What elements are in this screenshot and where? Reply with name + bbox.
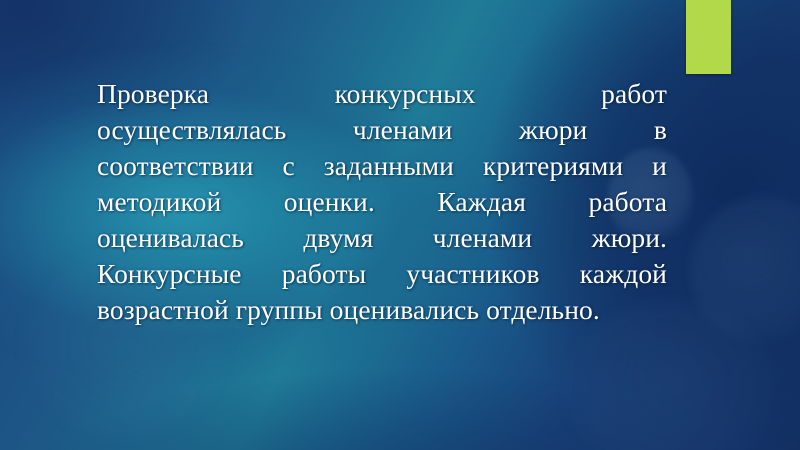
- body-line: осуществлялась членами жюри в: [97, 112, 667, 148]
- body-line: возрастной группы оценивались отдельно.: [97, 292, 667, 328]
- body-line: Конкурсные работы участников каждой: [97, 256, 667, 292]
- body-line: оценивалась двумя членами жюри.: [97, 220, 667, 256]
- body-line: методикой оценки. Каждая работа: [97, 184, 667, 220]
- slide-body-text: Проверка конкурсных работ осуществлялась…: [97, 76, 667, 328]
- green-accent-rectangle: [686, 0, 731, 74]
- body-line: Проверка конкурсных работ: [97, 76, 667, 112]
- presentation-slide: Проверка конкурсных работ осуществлялась…: [0, 0, 800, 450]
- body-paragraph: Проверка конкурсных работ осуществлялась…: [97, 76, 667, 328]
- body-line: соответствии с заданными критериями и: [97, 148, 667, 184]
